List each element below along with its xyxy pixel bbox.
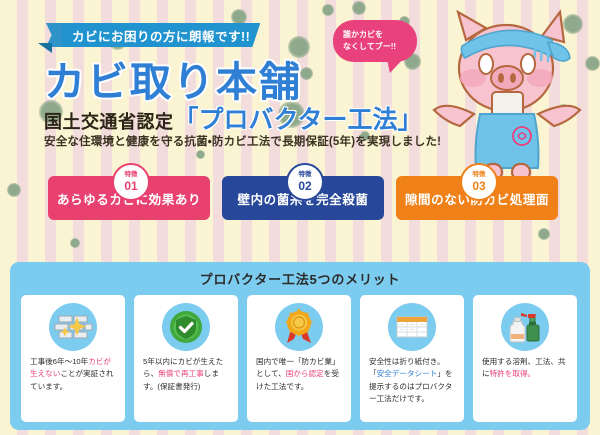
speech-bubble-tail [387, 59, 403, 73]
mascot-speech-bubble: 誰かカビを なくしてブー!! [333, 20, 417, 62]
lead-description: 安全な住環境と健康を守る抗菌・防カビ工法で長期保証(5年)を実現しました! [44, 133, 441, 149]
ribbon-label: カビにお困りの方に朗報です!! [62, 23, 260, 47]
merit-card[interactable]: 5年以内にカビが生えたら、無償で再工事します。(保証書発行) [134, 295, 238, 422]
feature-badge-label: 特徴 [125, 172, 138, 179]
merit-card-text: 工事後6年〜10年カビが生えないことが実証されています。 [27, 356, 119, 393]
merit-card[interactable]: 工事後6年〜10年カビが生えないことが実証されています。 [21, 295, 125, 422]
feature-badge-label: 特徴 [473, 172, 486, 179]
subtitle-certification: 国土交通省認定 [44, 108, 174, 134]
merit-card-text: 国内で唯一「防カビ業」として、国から認定を受けた工法です。 [253, 356, 345, 393]
mold-spot [538, 228, 550, 240]
merits-title: プロバクター工法5つのメリット [10, 262, 590, 294]
mold-spot [196, 150, 205, 159]
merit-card[interactable]: 安全性は折り紙付き。「安全データシート」を提示するのはプロバクター工法だけです。 [360, 295, 464, 422]
green-shield-check-icon [162, 303, 210, 351]
merit-card[interactable]: 国内で唯一「防カビ業」として、国から認定を受けた工法です。 [247, 295, 351, 422]
feature-badge-number: 03 [472, 180, 485, 192]
feature-badge-number: 01 [124, 180, 137, 192]
merit-card-text: 使用する溶剤、工法、共に特許を取得。 [479, 356, 571, 381]
feature-badge-number: 02 [298, 180, 311, 192]
pig-mascot-icon [418, 2, 596, 180]
data-sheet-table-icon [388, 303, 436, 351]
merit-card[interactable]: 使用する溶剤、工法、共に特許を取得。 [473, 295, 577, 422]
page-title: カビ取り本舗 [44, 48, 302, 108]
mold-spot [352, 1, 366, 15]
mold-spot [70, 238, 80, 248]
mold-spot [7, 183, 21, 197]
speech-line-1: 誰かカビを [343, 29, 417, 41]
merits-card-list: 工事後6年〜10年カビが生えないことが実証されています。 5年以内にカビが生えた… [21, 295, 579, 422]
feature-badge-03: 特徴 03 [460, 163, 498, 201]
feature-badge-label: 特徴 [299, 172, 312, 179]
merits-panel: プロバクター工法5つのメリット 工事後6年〜1 [10, 262, 590, 430]
gold-medal-ribbon-icon [275, 303, 323, 351]
merit-card-text: 安全性は折り紙付き。「安全データシート」を提示するのはプロバクター工法だけです。 [366, 356, 458, 405]
subtitle: 国土交通省認定 「プロバクター工法」 [44, 100, 423, 136]
merit-card-text: 5年以内にカビが生えたら、無償で再工事します。(保証書発行) [140, 356, 232, 393]
feature-badge-01: 特徴 01 [112, 163, 150, 201]
brick-wall-sparkle-icon [49, 303, 97, 351]
page-root: カビにお困りの方に朗報です!! カビ取り本舗 国土交通省認定 「プロバクター工法… [0, 0, 600, 435]
solvent-bottle-spray-icon [501, 303, 549, 351]
announcement-ribbon: カビにお困りの方に朗報です!! [46, 23, 260, 47]
subtitle-method-name: 「プロバクター工法」 [174, 100, 423, 136]
mold-spot [322, 4, 334, 16]
speech-line-2: なくしてブー!! [343, 41, 417, 53]
feature-badge-02: 特徴 02 [286, 163, 324, 201]
